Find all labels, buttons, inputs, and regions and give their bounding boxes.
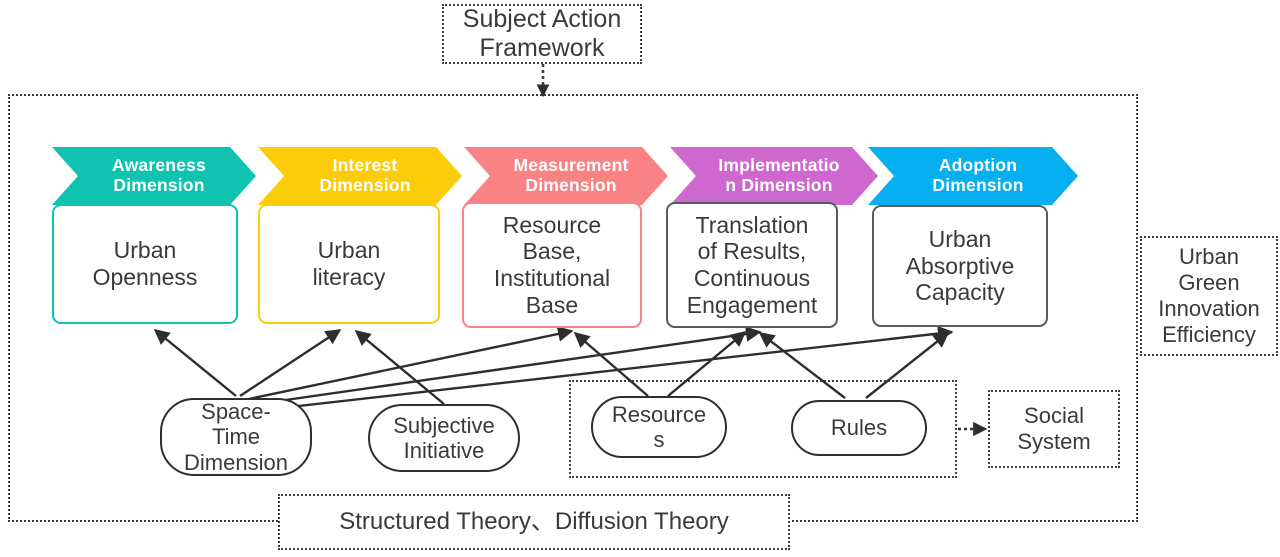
chevron-adoption-line1: Adoption [932, 156, 1023, 176]
theory-caption-text: Structured Theory、Diffusion Theory [339, 508, 729, 536]
card-resource-institutional-base[interactable]: Resource Base, Institutional Base [462, 202, 642, 328]
subject-action-framework-box: Subject Action Framework [442, 4, 642, 64]
ugie-line3: Innovation [1158, 296, 1260, 322]
chevron-adoption-line2: Dimension [932, 176, 1023, 196]
chevron-measurement-dimension[interactable]: Measurement Dimension [464, 147, 668, 205]
node-subjective-line1: Subjective [393, 413, 495, 438]
ugie-line4: Efficiency [1158, 322, 1260, 348]
node-resources-line2: s [612, 427, 706, 452]
chevron-measurement-line1: Measurement [513, 156, 628, 176]
diagram-canvas: Subject Action Framework [0, 0, 1280, 557]
chevron-implementation-line1: Implementatio [718, 156, 839, 176]
label-social-system: Social System [988, 390, 1120, 468]
card-urban-openness[interactable]: Urban Openness [52, 204, 238, 324]
card-translation-line3: Continuous [687, 265, 817, 292]
card-urban-literacy-line2: literacy [313, 264, 386, 291]
chevron-interest-dimension[interactable]: Interest Dimension [258, 147, 462, 205]
node-rules-line1: Rules [831, 415, 887, 440]
chevron-interest-line1: Interest [319, 156, 410, 176]
node-space-time-line3: Dimension [184, 450, 288, 475]
card-translation-line1: Translation [687, 212, 817, 239]
card-resource-base-line4: Base [494, 292, 610, 319]
card-absorptive-line2: Absorptive [906, 253, 1015, 280]
card-urban-openness-line2: Openness [93, 264, 198, 291]
label-urban-green-innovation-efficiency: Urban Green Innovation Efficiency [1140, 236, 1278, 356]
chevron-implementation-line2: n Dimension [718, 176, 839, 196]
chevron-adoption-dimension[interactable]: Adoption Dimension [868, 147, 1078, 205]
node-rules[interactable]: Rules [791, 400, 927, 456]
card-resource-base-line2: Base, [494, 238, 610, 265]
node-space-time-line1: Space- [184, 399, 288, 424]
chevron-measurement-line2: Dimension [513, 176, 628, 196]
framework-title-line1: Subject Action [463, 5, 621, 35]
chevron-implementation-dimension[interactable]: Implementatio n Dimension [670, 147, 878, 205]
chevron-awareness-line2: Dimension [112, 176, 206, 196]
card-urban-literacy[interactable]: Urban literacy [258, 204, 440, 324]
node-resources-line1: Resource [612, 402, 706, 427]
card-urban-openness-line1: Urban [93, 237, 198, 264]
card-resource-base-line1: Resource [494, 212, 610, 239]
social-system-line2: System [1017, 429, 1090, 455]
card-absorptive-line1: Urban [906, 226, 1015, 253]
social-system-line1: Social [1017, 403, 1090, 429]
card-translation-line2: of Results, [687, 238, 817, 265]
ugie-line1: Urban [1158, 244, 1260, 270]
chevron-interest-line2: Dimension [319, 176, 410, 196]
card-resource-base-line3: Institutional [494, 265, 610, 292]
node-subjective-initiative[interactable]: Subjective Initiative [368, 404, 520, 472]
node-resources[interactable]: Resource s [591, 396, 727, 458]
node-subjective-line2: Initiative [393, 438, 495, 463]
card-urban-absorptive-capacity[interactable]: Urban Absorptive Capacity [872, 205, 1048, 327]
card-absorptive-line3: Capacity [906, 279, 1015, 306]
card-translation-line4: Engagement [687, 292, 817, 319]
chevron-awareness-line1: Awareness [112, 156, 206, 176]
node-space-time-line2: Time [184, 424, 288, 449]
framework-title-line2: Framework [463, 34, 621, 64]
card-translation-results-engagement[interactable]: Translation of Results, Continuous Engag… [666, 202, 838, 328]
ugie-line2: Green [1158, 270, 1260, 296]
label-theory-caption: Structured Theory、Diffusion Theory [278, 494, 790, 550]
node-space-time-dimension[interactable]: Space- Time Dimension [160, 398, 312, 476]
card-urban-literacy-line1: Urban [313, 237, 386, 264]
chevron-awareness-dimension[interactable]: Awareness Dimension [52, 147, 256, 205]
